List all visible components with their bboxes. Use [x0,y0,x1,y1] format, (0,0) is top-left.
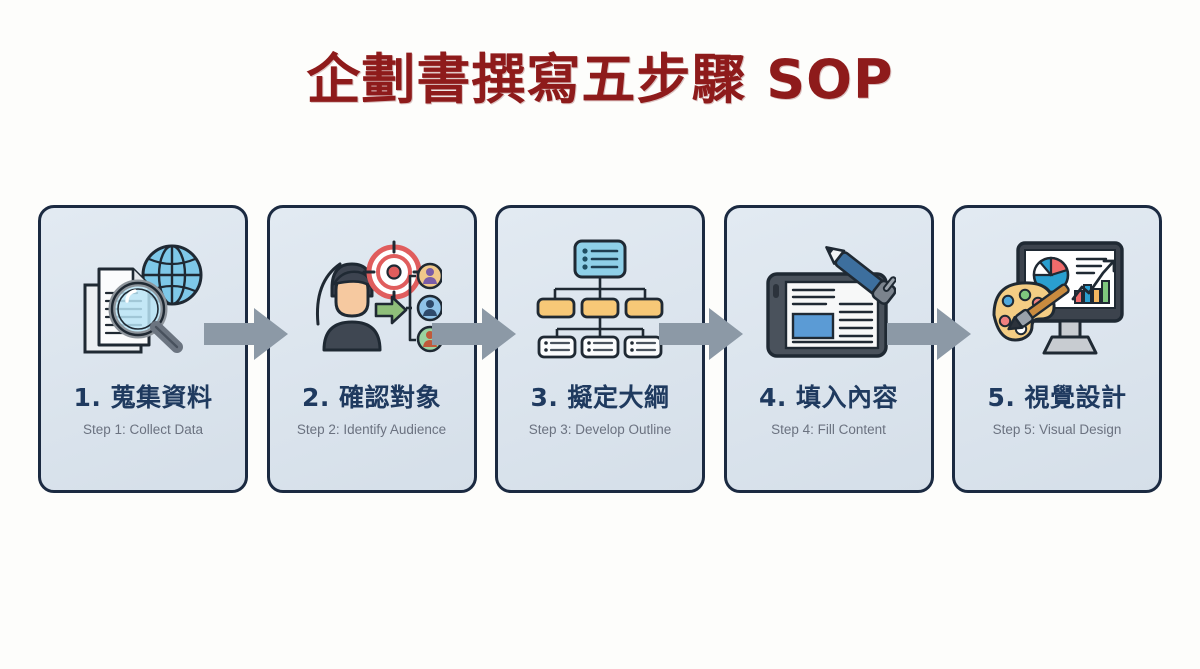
page-title: 企劃書撰寫五步驟 SOP [0,50,1200,109]
step-subtitle: Step 3: Develop Outline [529,422,672,437]
arrow-right-icon [659,308,743,360]
step-title: 3. 擬定大綱 [530,385,669,410]
step-card-5[interactable]: 5. 視覺設計 Step 5: Visual Design [952,205,1162,493]
step-subtitle: Step 4: Fill Content [771,422,886,437]
step-title: 2. 確認對象 [302,385,441,410]
arrow-right-icon [432,308,516,360]
step-subtitle: Step 5: Visual Design [993,422,1122,437]
step-subtitle: Step 2: Identify Audience [297,422,446,437]
infographic-canvas: 企劃書撰寫五步驟 SOP [0,0,1200,669]
step-subtitle: Step 1: Collect Data [83,422,203,437]
monitor-charts-palette-icon [955,208,1159,383]
step-title: 4. 填入內容 [759,385,898,410]
step-title: 1. 蒐集資料 [73,385,212,410]
arrow-right-icon [887,308,971,360]
arrow-right-icon [204,308,288,360]
step-title: 5. 視覺設計 [987,385,1126,410]
